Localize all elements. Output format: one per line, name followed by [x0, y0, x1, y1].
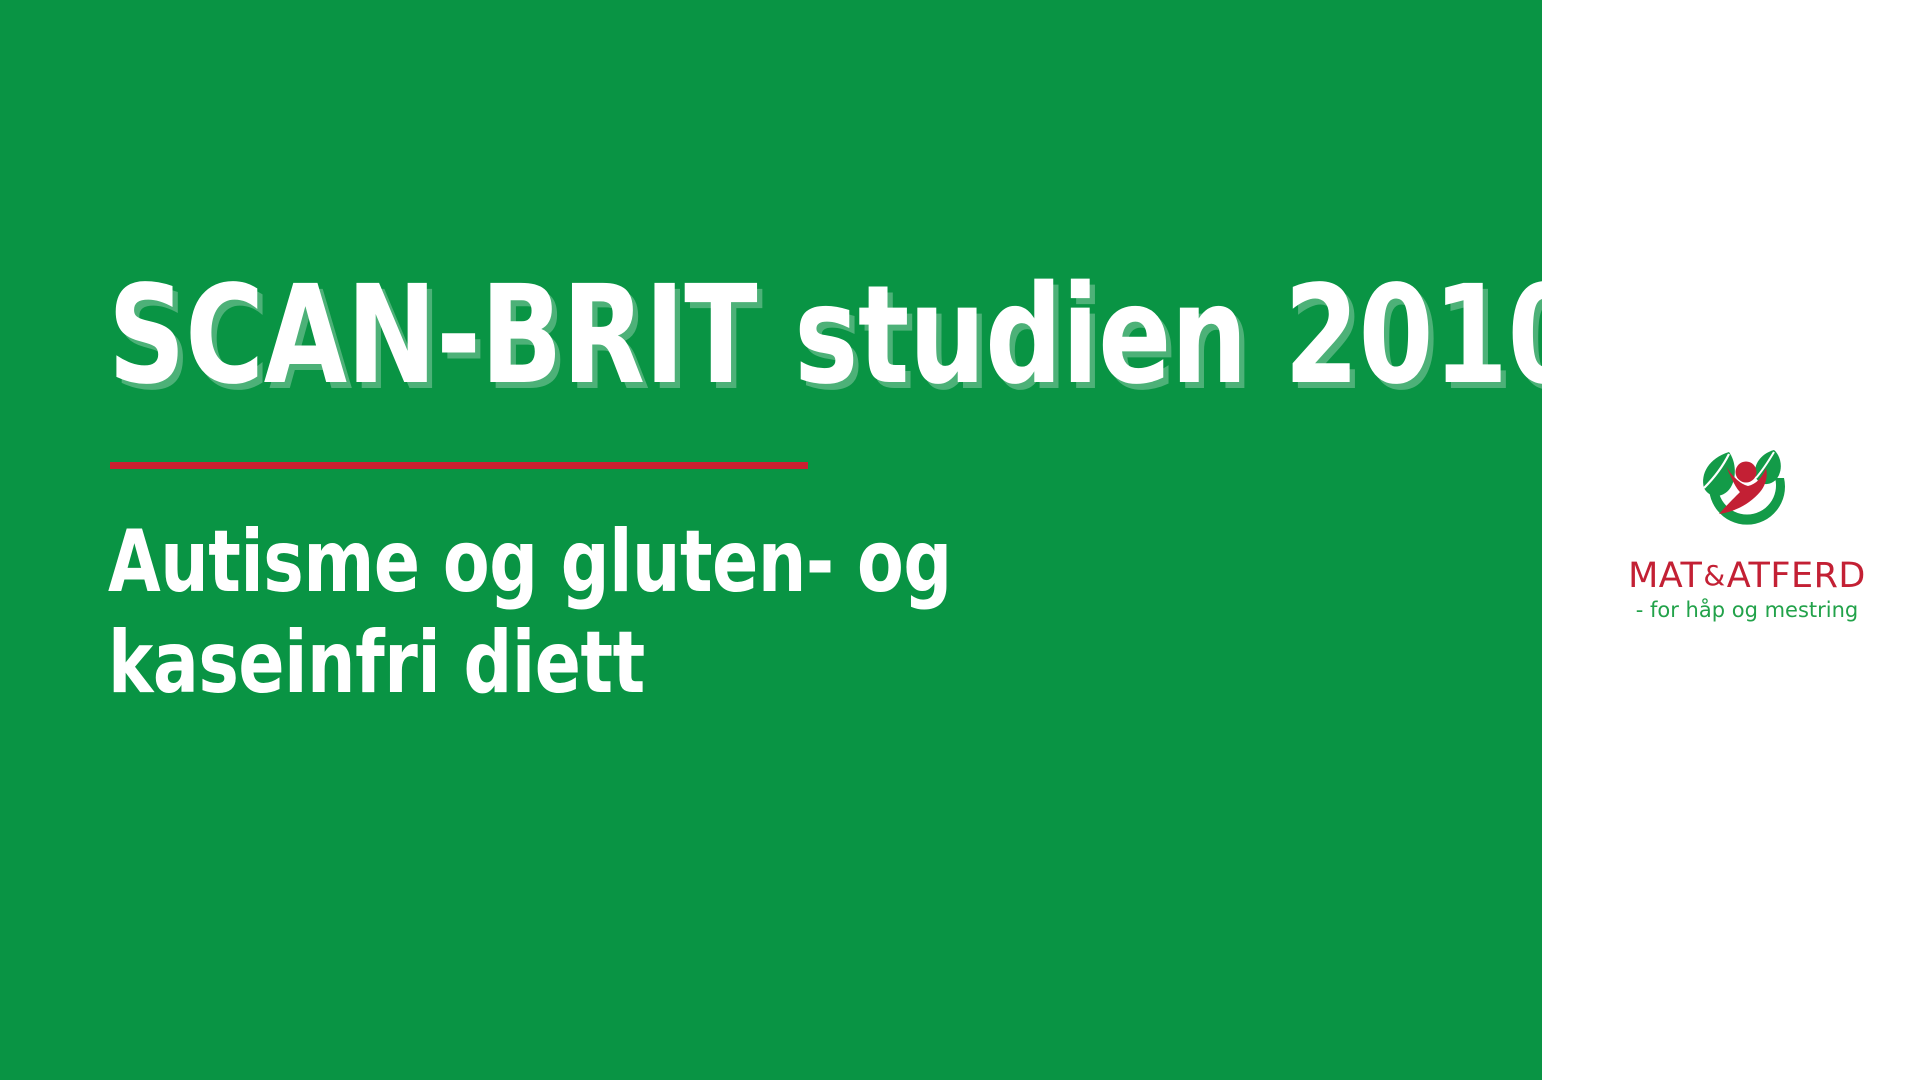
title-divider-rule [110, 462, 808, 469]
slide-title: SCAN-BRIT studien 2010 [108, 268, 1322, 404]
logo-wordmark: MAT&ATFERD [1612, 558, 1882, 595]
title-block: SCAN-BRIT studien 2010 [108, 268, 1488, 404]
brand-logo: MAT&ATFERD - for håp og mestring [1612, 440, 1882, 624]
slide-subtitle: Autisme og gluten- og kaseinfri diett [108, 512, 1164, 715]
subtitle-block: Autisme og gluten- og kaseinfri diett [108, 512, 1208, 715]
presentation-slide: SCAN-BRIT studien 2010 Autisme og gluten… [0, 0, 1920, 1080]
logo-wordmark-atferd: ATFERD [1727, 556, 1866, 596]
mat-og-atferd-emblem-icon [1688, 440, 1806, 552]
logo-wordmark-mat: MAT [1628, 556, 1702, 596]
logo-wordmark-ampersand: & [1702, 559, 1726, 592]
logo-tagline: - for håp og mestring [1612, 597, 1882, 624]
